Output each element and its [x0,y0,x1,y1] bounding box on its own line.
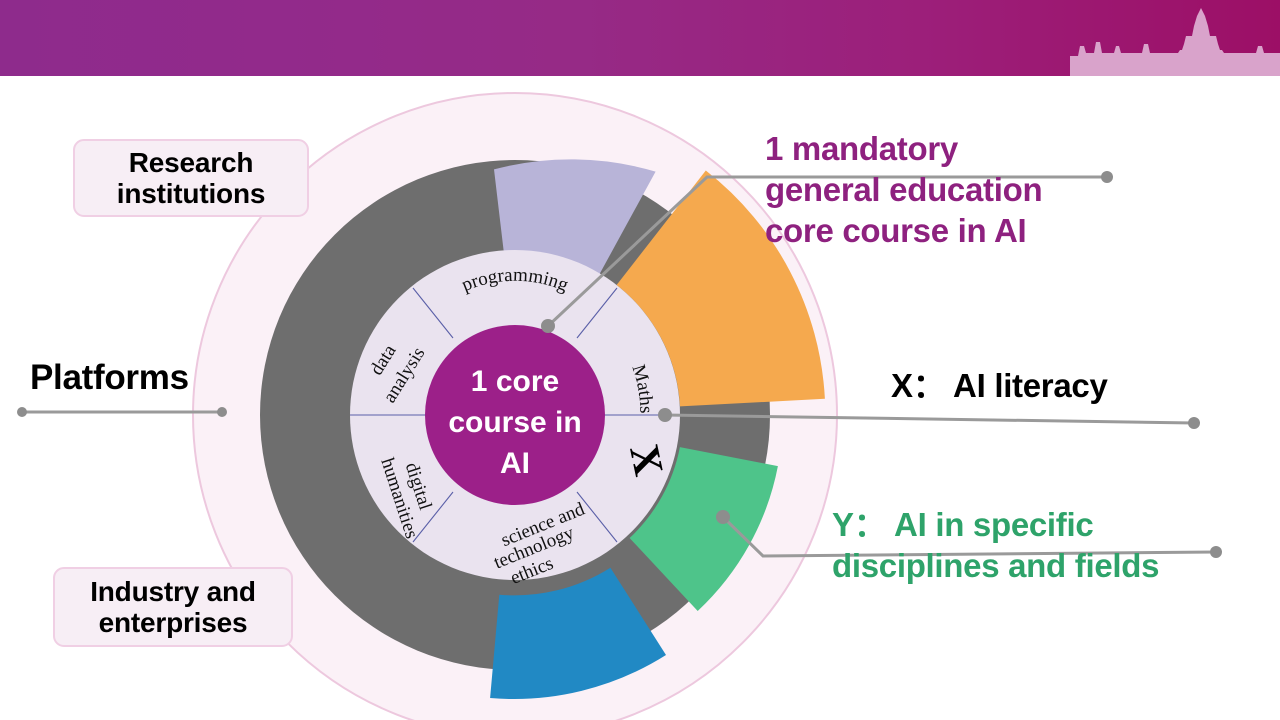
label-platforms: Platforms [30,358,189,398]
tag-industry-line1: Industry and [90,576,256,607]
callout-y-specific: Y： AI in specific disciplines and fields [834,505,1159,587]
tag-research-line1: Research [129,147,253,178]
slide-canvas: programming Maths X science and technolo… [0,0,1280,720]
tag-industry-enterprises[interactable]: Industry and enterprises [53,567,293,647]
tag-research-line2: institutions [117,178,265,209]
tag-research-institutions[interactable]: Research institutions [73,139,309,217]
center-label-line2: course in [448,406,581,439]
callout-y-line2: disciplines and fields [832,546,1159,587]
callout-y-line1: Y： AI in specific [832,505,1159,546]
center-label-line1: 1 core [471,365,559,398]
callout-mandatory-line1: 1 mandatory [765,129,1042,170]
tag-industry-line2: enterprises [99,607,248,638]
callout-mandatory-line3: core course in AI [765,211,1042,252]
callout-x-literacy: X： AI literacy [891,366,1108,407]
callout-mandatory-line2: general education [765,170,1042,211]
center-label-line3: AI [500,447,530,480]
callout-mandatory-course: 1 mandatory general education core cours… [765,129,1042,252]
